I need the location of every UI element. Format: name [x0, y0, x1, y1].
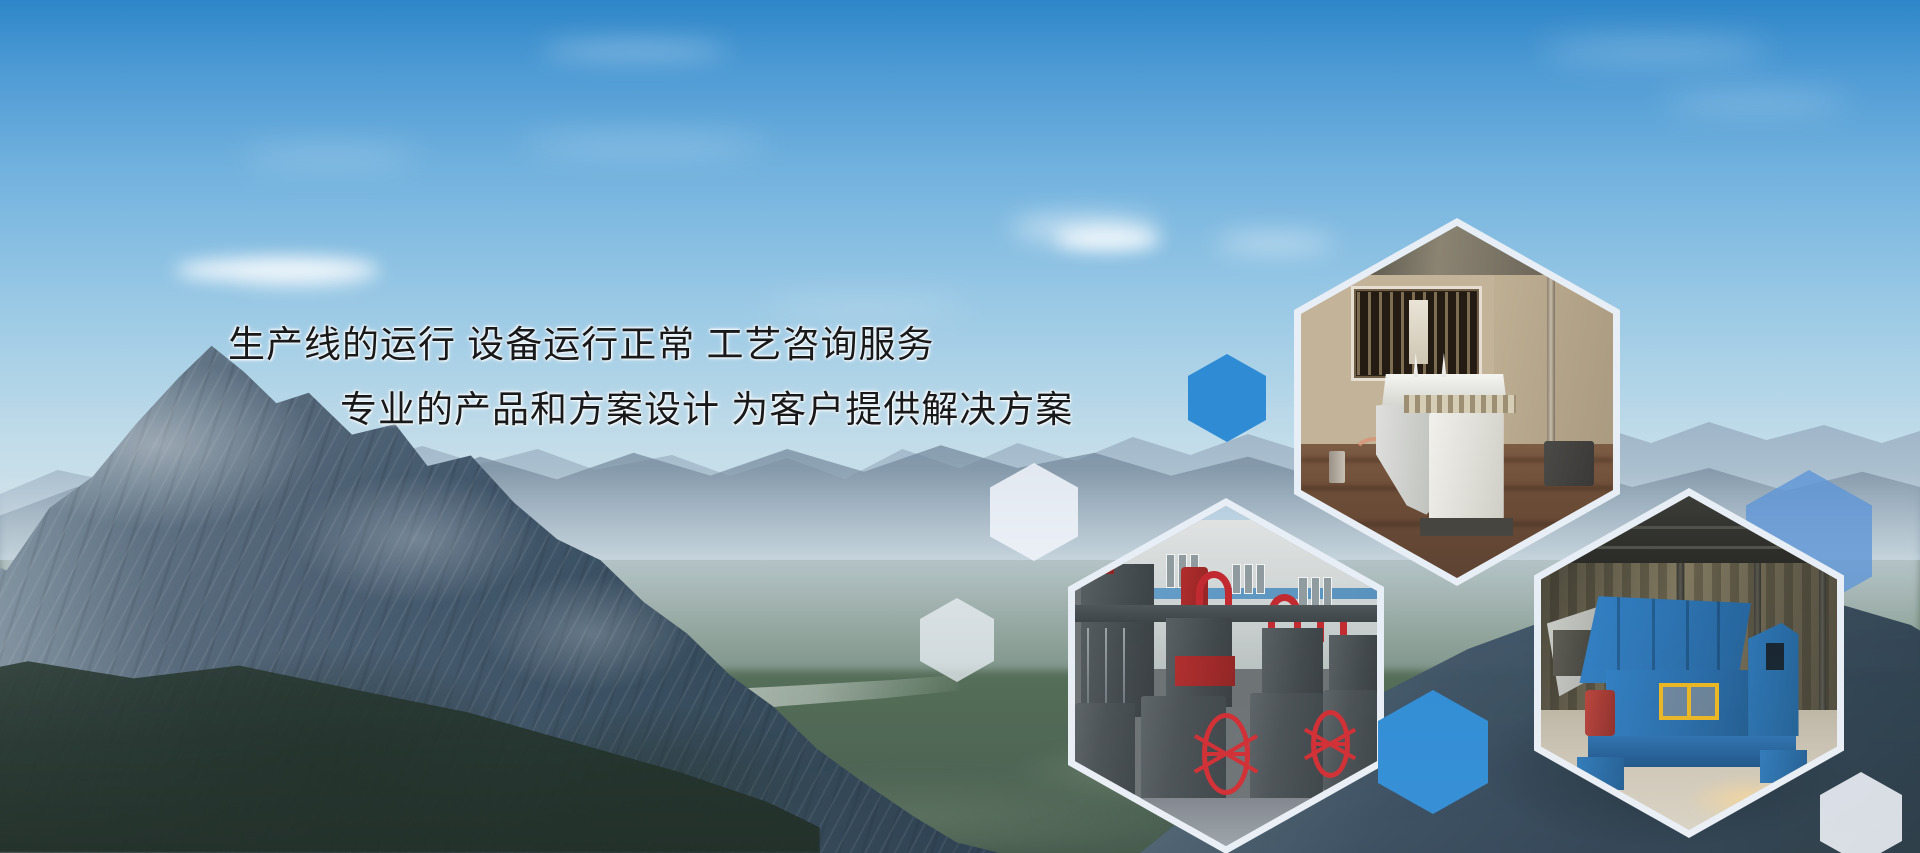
- photo-dark-equipment: [1544, 441, 1594, 487]
- drive-motor: [1585, 690, 1615, 737]
- shed-column: [1819, 563, 1826, 717]
- cloud-icon: [1055, 228, 1160, 250]
- cloud-icon: [1540, 42, 1770, 58]
- photo-window: [1311, 577, 1320, 608]
- machine-rail: [1087, 628, 1089, 703]
- photo-window: [1232, 564, 1241, 595]
- machine-frame: [1081, 564, 1153, 717]
- headline-line-2: 专业的产品和方案设计 为客户提供解决方案: [340, 391, 1208, 430]
- shredder-cabinet: [1748, 623, 1798, 737]
- roof-beam: [1541, 546, 1837, 549]
- headline-block: 生产线的运行 设备运行正常 工艺咨询服务 专业的产品和方案设计 为客户提供解决方…: [228, 326, 1208, 430]
- window-pane: [1409, 300, 1428, 364]
- machine-flange: [1404, 395, 1516, 413]
- photo-window: [1323, 577, 1332, 608]
- machine-rail: [1123, 628, 1125, 703]
- photo-window: [1166, 554, 1175, 588]
- cloud-icon: [520, 138, 770, 151]
- red-handwheel: [1311, 710, 1350, 778]
- cabinet-vent: [1766, 643, 1784, 670]
- headline-line-1: 生产线的运行 设备运行正常 工艺咨询服务: [228, 326, 1208, 365]
- yellow-safety-rail: [1659, 683, 1718, 720]
- photo-downpipe: [1547, 275, 1554, 458]
- machine-base: [1420, 518, 1514, 536]
- photo-window: [1298, 577, 1307, 608]
- cloud-icon: [1660, 95, 1850, 108]
- safety-rail-bar: [1687, 687, 1691, 716]
- cloud-icon: [240, 150, 420, 162]
- hero-banner: 生产线的运行 设备运行正常 工艺咨询服务 专业的产品和方案设计 为客户提供解决方…: [0, 0, 1920, 853]
- cloud-icon: [240, 268, 370, 282]
- red-panel: [1175, 656, 1235, 687]
- photo-window: [1244, 564, 1253, 595]
- photo-window: [1256, 564, 1265, 595]
- red-handwheel: [1202, 713, 1250, 795]
- handwheel-spoke: [1207, 752, 1245, 756]
- photo-drum: [1329, 451, 1345, 483]
- cloud-icon: [1215, 235, 1335, 251]
- cloud-icon: [760, 300, 970, 312]
- cloud-icon: [540, 45, 730, 56]
- handwheel-spoke: [1316, 742, 1345, 746]
- machine-rail: [1105, 628, 1107, 703]
